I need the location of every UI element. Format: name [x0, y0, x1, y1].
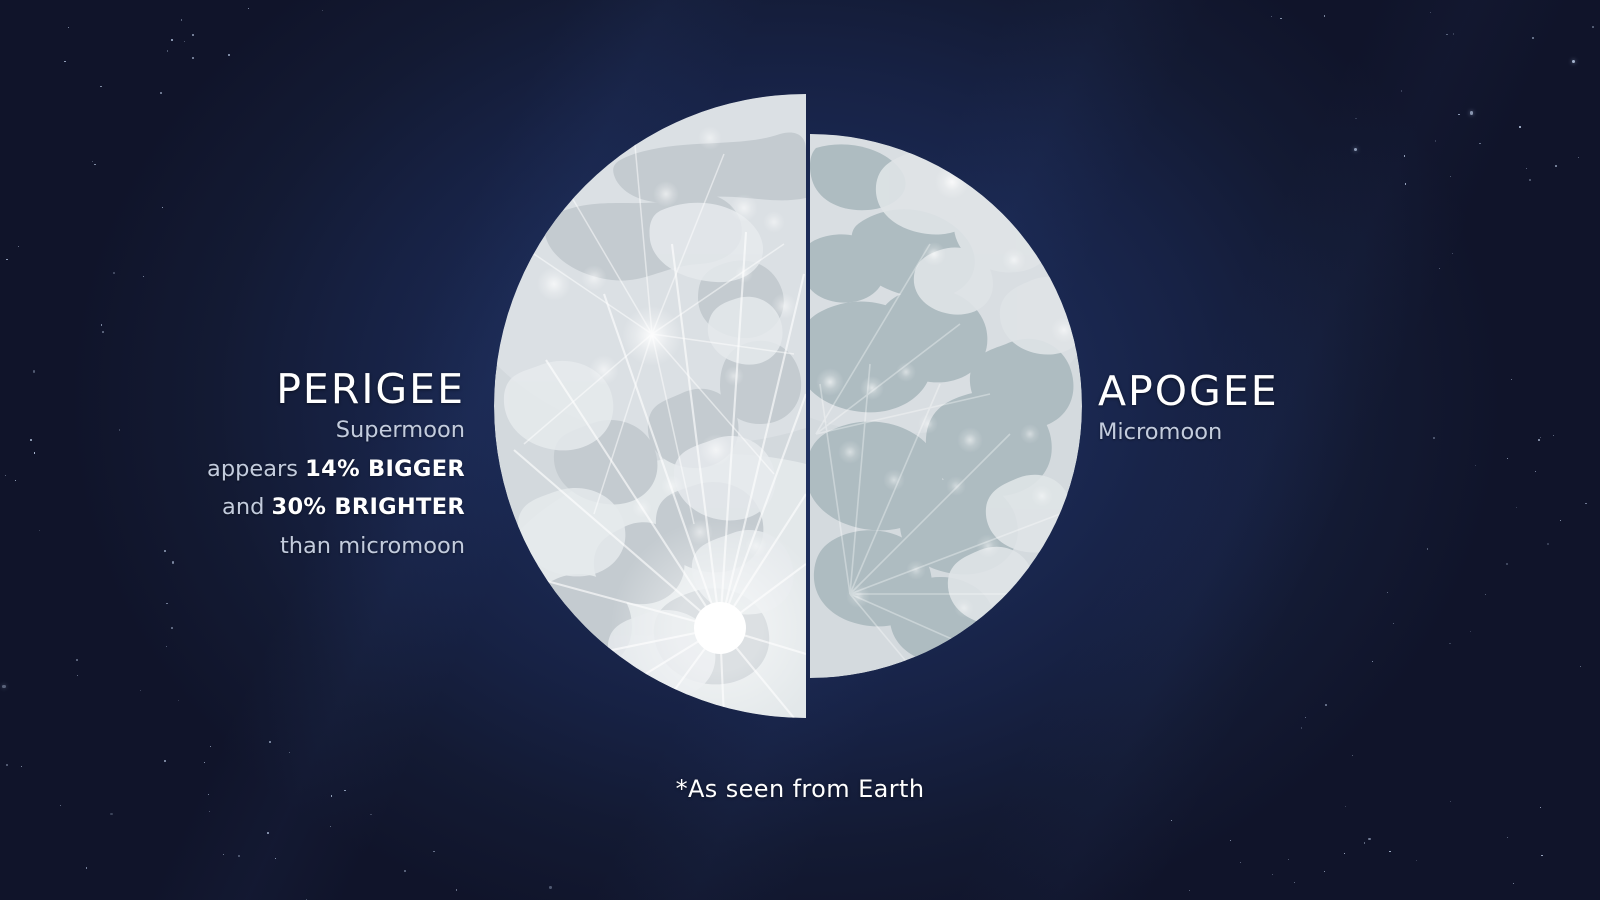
star: [1372, 661, 1373, 662]
star: [267, 832, 269, 834]
subtitle-line: Supermoon: [207, 411, 465, 450]
star: [1529, 179, 1531, 181]
star: [164, 760, 166, 762]
star: [94, 164, 96, 166]
infographic-canvas: PERIGEE Supermoonappears 14% BIGGERand 3…: [0, 0, 1600, 900]
star: [30, 439, 32, 441]
star: [1560, 520, 1561, 521]
star: [1305, 717, 1306, 718]
star: [1541, 855, 1542, 856]
subtitle-text: Micromoon: [1098, 419, 1222, 445]
star: [39, 530, 40, 531]
star: [1416, 860, 1417, 861]
star: [102, 331, 104, 333]
star: [101, 324, 103, 326]
star: [1189, 890, 1190, 891]
perigee-subtitle: Supermoonappears 14% BIGGERand 30% BRIGH…: [207, 411, 465, 566]
star: [1345, 806, 1346, 807]
star: [64, 61, 65, 62]
star: [1578, 157, 1579, 158]
star: [330, 826, 331, 827]
micromoon-svg: [810, 134, 1082, 678]
star: [275, 858, 276, 859]
star: [1446, 34, 1447, 35]
star: [1171, 820, 1172, 821]
star: [167, 50, 168, 51]
star: [1479, 143, 1480, 144]
star: [1280, 18, 1281, 19]
star: [1354, 148, 1357, 151]
subtitle-text: than micromoon: [280, 533, 465, 559]
star: [5, 475, 6, 476]
star: [1364, 842, 1365, 843]
star: [1288, 859, 1289, 860]
star: [1430, 12, 1431, 13]
star: [1389, 851, 1391, 853]
star: [223, 854, 224, 855]
star: [119, 429, 120, 430]
star: [33, 370, 35, 372]
star: [1470, 631, 1471, 632]
star: [1401, 90, 1402, 91]
star: [192, 34, 194, 36]
star: [1553, 435, 1554, 436]
star: [1513, 883, 1514, 884]
star: [1404, 155, 1406, 157]
star: [1453, 33, 1454, 34]
star: [113, 272, 115, 274]
star: [60, 805, 61, 806]
star: [456, 889, 457, 890]
star: [1230, 840, 1231, 841]
star: [1435, 140, 1436, 141]
star: [1387, 592, 1388, 593]
star: [2, 685, 5, 688]
star: [1519, 126, 1521, 128]
star: [171, 627, 173, 629]
star: [1507, 458, 1508, 459]
star: [181, 19, 183, 21]
star: [160, 92, 162, 94]
star: [6, 259, 7, 260]
star: [18, 246, 19, 247]
subtitle-line: Micromoon: [1098, 413, 1279, 452]
star: [1555, 165, 1557, 167]
star: [184, 41, 185, 42]
star: [1585, 503, 1587, 505]
apogee-heading: APOGEE: [1098, 370, 1279, 413]
subtitle-text: and: [222, 494, 271, 520]
star: [433, 851, 435, 853]
star: [162, 207, 164, 209]
star: [192, 57, 194, 59]
star: [238, 855, 240, 857]
star: [1368, 838, 1370, 840]
star: [1449, 643, 1451, 645]
star: [1393, 623, 1394, 624]
star: [228, 54, 230, 56]
subtitle-text: Supermoon: [336, 417, 465, 443]
subtitle-emphasis: 14% BIGGER: [305, 456, 465, 482]
star: [1572, 60, 1575, 63]
star: [1301, 727, 1303, 729]
star: [100, 86, 102, 88]
star: [1272, 874, 1273, 875]
star: [1540, 437, 1541, 438]
star: [1538, 439, 1540, 441]
footnote: *As seen from Earth: [0, 775, 1600, 803]
star: [1458, 114, 1459, 115]
supermoon-half-moon: [494, 94, 806, 718]
star: [86, 867, 87, 868]
perigee-heading: PERIGEE: [207, 368, 465, 411]
star: [143, 276, 144, 277]
star: [269, 741, 271, 743]
star: [1355, 118, 1357, 120]
star: [140, 690, 141, 691]
subtitle-text: appears: [207, 456, 305, 482]
star: [1511, 379, 1512, 380]
star: [1324, 871, 1325, 872]
star: [1450, 176, 1451, 177]
star: [289, 752, 290, 753]
subtitle-line: and 30% BRIGHTER: [207, 488, 465, 527]
star: [1540, 807, 1541, 808]
star: [1240, 862, 1241, 863]
perigee-text-block: PERIGEE Supermoonappears 14% BIGGERand 3…: [207, 368, 465, 566]
star: [166, 603, 167, 604]
star: [34, 452, 36, 454]
star: [1506, 563, 1507, 564]
star: [171, 39, 173, 41]
star: [322, 10, 323, 11]
star: [110, 813, 112, 815]
supermoon-svg: [494, 94, 806, 718]
star: [1452, 253, 1453, 254]
micromoon-half-moon: [810, 134, 1082, 678]
star: [68, 27, 69, 28]
star: [1535, 471, 1536, 472]
star: [1344, 853, 1345, 854]
star: [6, 764, 8, 766]
star: [1325, 704, 1327, 706]
subtitle-line: appears 14% BIGGER: [207, 450, 465, 489]
subtitle-emphasis: 30% BRIGHTER: [272, 494, 465, 520]
star: [1580, 666, 1581, 667]
star: [1294, 882, 1295, 883]
star: [549, 886, 551, 888]
star: [370, 814, 371, 815]
star: [1439, 268, 1440, 269]
apogee-text-block: APOGEE Micromoon: [1098, 370, 1279, 452]
star: [21, 766, 22, 767]
star: [1324, 15, 1325, 16]
tycho-crater: [694, 602, 746, 654]
star: [1470, 111, 1473, 114]
subtitle-line: than micromoon: [207, 527, 465, 566]
star: [76, 659, 78, 661]
star: [1485, 594, 1486, 595]
star: [1405, 183, 1407, 185]
apogee-subtitle: Micromoon: [1098, 413, 1279, 452]
star: [164, 550, 166, 552]
star: [178, 700, 179, 701]
star: [1475, 465, 1476, 466]
star: [15, 480, 16, 481]
star: [166, 646, 167, 647]
star: [1352, 755, 1354, 757]
star: [1516, 507, 1517, 508]
star: [1427, 548, 1429, 550]
star: [1433, 437, 1435, 439]
star: [1271, 16, 1272, 17]
star: [172, 561, 174, 563]
star: [1592, 26, 1594, 28]
star: [92, 161, 93, 162]
star: [204, 762, 205, 763]
star: [1532, 37, 1533, 38]
star: [1547, 543, 1549, 545]
star: [404, 870, 406, 872]
star: [1526, 168, 1527, 169]
star: [77, 675, 78, 676]
star: [248, 8, 249, 9]
star: [209, 811, 210, 812]
star: [210, 746, 211, 747]
star: [1507, 837, 1508, 838]
